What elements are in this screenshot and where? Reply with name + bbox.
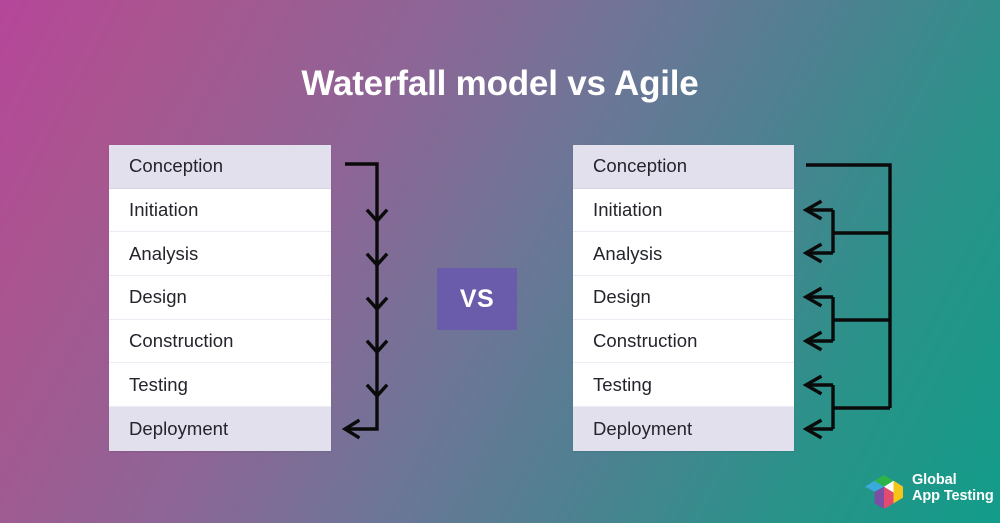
logo-line-1: Global [912,472,994,488]
vs-badge: VS [437,268,517,330]
global-app-testing-mark-icon [864,468,904,508]
logo-wordmark: Global App Testing [912,472,994,504]
brand-logo: Global App Testing [864,468,994,508]
infographic-canvas: Waterfall model vs Agile Conception Init… [0,0,1000,523]
vs-label: VS [460,285,494,314]
logo-line-2: App Testing [912,488,994,504]
agile-iteration-loops-icon [0,0,1000,523]
